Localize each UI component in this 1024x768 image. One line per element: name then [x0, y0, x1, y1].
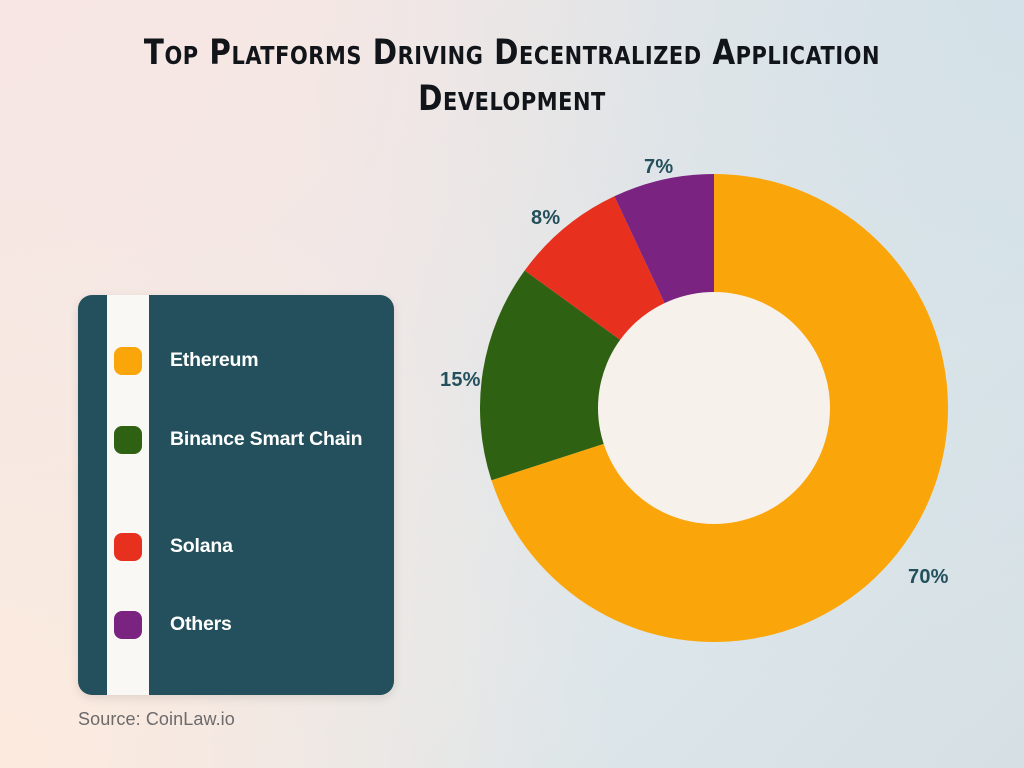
page-title: Top Platforms Driving Decentralized Appl…: [94, 30, 931, 122]
slice-value-label-ethereum: 70%: [908, 566, 949, 589]
legend-swatch-ethereum: [114, 347, 142, 375]
legend-item-label: Binance Smart Chain: [170, 428, 370, 452]
legend-item-label: Ethereum: [170, 349, 370, 373]
legend-card: EthereumBinance Smart ChainSolanaOthers: [78, 295, 394, 695]
donut-chart: [480, 174, 948, 642]
slice-value-label-solana: 8%: [531, 207, 560, 230]
legend-swatch-binance-smart-chain: [114, 426, 142, 454]
donut-chart-svg: [480, 174, 948, 642]
legend-list: EthereumBinance Smart ChainSolanaOthers: [78, 295, 394, 695]
slice-value-label-binance-smart-chain: 15%: [440, 369, 481, 392]
infographic-canvas: Top Platforms Driving Decentralized Appl…: [0, 0, 1024, 768]
legend-item-label: Others: [170, 613, 370, 637]
slice-value-label-others: 7%: [644, 156, 673, 179]
legend-item-label: Solana: [170, 535, 370, 559]
legend-swatch-solana: [114, 533, 142, 561]
legend-swatch-others: [114, 611, 142, 639]
source-caption: Source: CoinLaw.io: [78, 709, 235, 730]
donut-hole: [598, 292, 830, 524]
